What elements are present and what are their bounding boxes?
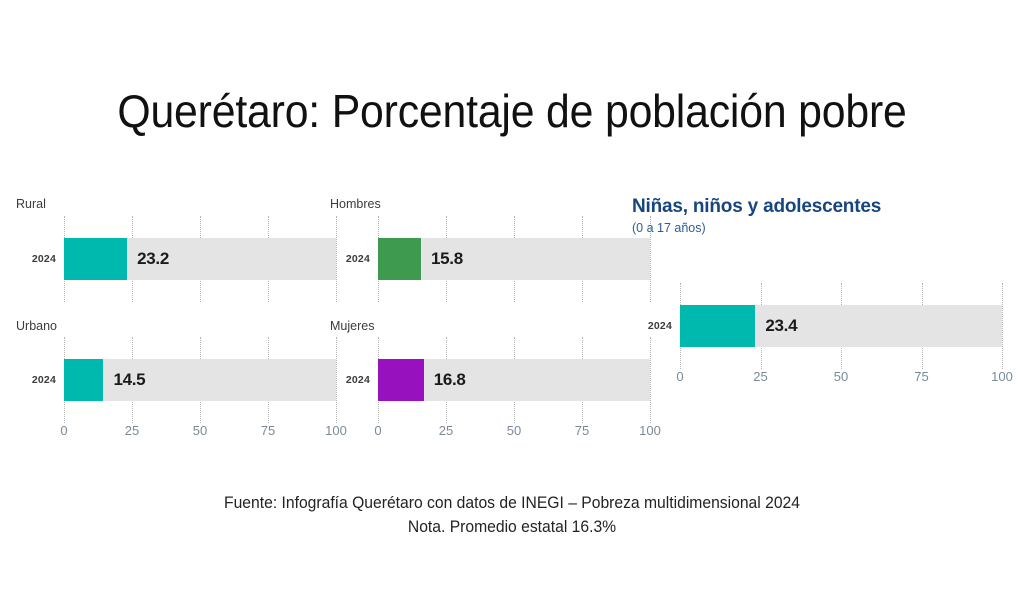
axis-tick-0: 0: [60, 423, 67, 438]
plot-area-mujeres: 16.8: [378, 337, 650, 423]
page-title: Querétaro: Porcentaje de población pobre: [36, 84, 988, 138]
axis-tick-50: 50: [193, 423, 207, 438]
slide-canvas: Querétaro: Porcentaje de población pobre…: [0, 0, 1024, 594]
footer-source: Fuente: Infografía Querétaro con datos d…: [26, 492, 999, 516]
year-label-mujeres: 2024: [346, 374, 370, 386]
year-gutter: 2024: [330, 337, 378, 423]
bar-track-urbano: 14.5: [64, 359, 336, 401]
plot-area-children: 23.4: [680, 283, 1002, 369]
axis-tick-0: 0: [676, 369, 683, 384]
year-label-rural: 2024: [32, 253, 56, 265]
axis-tick-50: 50: [834, 369, 848, 384]
bar-value-children: 23.4: [765, 316, 797, 336]
year-gutter: 2024: [16, 337, 64, 423]
bar-value-mujeres: 16.8: [434, 370, 466, 390]
year-gutter: 2024: [16, 216, 64, 302]
series-label-hombres: Hombres: [330, 198, 650, 211]
bar-fill-rural[interactable]: [64, 238, 127, 280]
chart-panel-sex: Hombres 2024 15.8 Muj: [330, 198, 650, 445]
x-axis-locality: 0 25 50 75 100: [64, 423, 336, 445]
plot-area-rural: 23.2: [64, 216, 336, 302]
chart-urbano: Urbano 2024 14.5: [16, 320, 336, 424]
axis-tick-25: 25: [125, 423, 139, 438]
footer-note: Fuente: Infografía Querétaro con datos d…: [26, 492, 999, 540]
axis-tick-0: 0: [374, 423, 381, 438]
chart-children: 2024 23.4: [632, 283, 1002, 369]
x-axis-children: 0 25 50 75 100: [680, 369, 1002, 391]
year-label-children: 2024: [648, 320, 672, 332]
bar-track-rural: 23.2: [64, 238, 336, 280]
bar-track-children: 23.4: [680, 305, 1002, 347]
series-label-urbano: Urbano: [16, 320, 336, 333]
bar-unit-hombres: 2024 15.8: [330, 216, 650, 302]
axis-tick-25: 25: [439, 423, 453, 438]
chart-panel-locality: Rural 2024 23.2 Urban: [16, 198, 336, 445]
bar-track-mujeres: 16.8: [378, 359, 650, 401]
bar-track-hombres: 15.8: [378, 238, 650, 280]
plot-area-urbano: 14.5: [64, 337, 336, 423]
axis-tick-75: 75: [914, 369, 928, 384]
bar-value-urbano: 14.5: [113, 370, 145, 390]
year-label-urbano: 2024: [32, 374, 56, 386]
bar-fill-children[interactable]: [680, 305, 755, 347]
bar-fill-mujeres[interactable]: [378, 359, 424, 401]
children-heading: Niñas, niños y adolescentes: [632, 196, 1002, 218]
gridline-100: [1002, 283, 1003, 369]
bar-fill-hombres[interactable]: [378, 238, 421, 280]
chart-hombres: Hombres 2024 15.8: [330, 198, 650, 302]
bar-value-hombres: 15.8: [431, 249, 463, 269]
chart-panel-children: Niñas, niños y adolescentes (0 a 17 años…: [632, 196, 1002, 391]
bar-unit-children: 2024 23.4: [632, 283, 1002, 369]
axis-tick-50: 50: [507, 423, 521, 438]
bar-unit-rural: 2024 23.2: [16, 216, 336, 302]
axis-tick-100: 100: [991, 369, 1013, 384]
bar-unit-mujeres: 2024 16.8: [330, 337, 650, 423]
plot-area-hombres: 15.8: [378, 216, 650, 302]
year-gutter: 2024: [330, 216, 378, 302]
bar-value-rural: 23.2: [137, 249, 169, 269]
chart-rural: Rural 2024 23.2: [16, 198, 336, 302]
year-gutter: 2024: [632, 283, 680, 369]
bar-unit-urbano: 2024 14.5: [16, 337, 336, 423]
chart-mujeres: Mujeres 2024 16.8: [330, 320, 650, 424]
footer-nota: Nota. Promedio estatal 16.3%: [26, 516, 999, 540]
axis-tick-100: 100: [639, 423, 661, 438]
year-label-hombres: 2024: [346, 253, 370, 265]
axis-tick-25: 25: [753, 369, 767, 384]
x-axis-sex: 0 25 50 75 100: [378, 423, 650, 445]
series-label-mujeres: Mujeres: [330, 320, 650, 333]
bar-fill-urbano[interactable]: [64, 359, 103, 401]
series-label-rural: Rural: [16, 198, 336, 211]
axis-tick-75: 75: [575, 423, 589, 438]
axis-tick-75: 75: [261, 423, 275, 438]
children-subheading: (0 a 17 años): [632, 221, 1002, 235]
